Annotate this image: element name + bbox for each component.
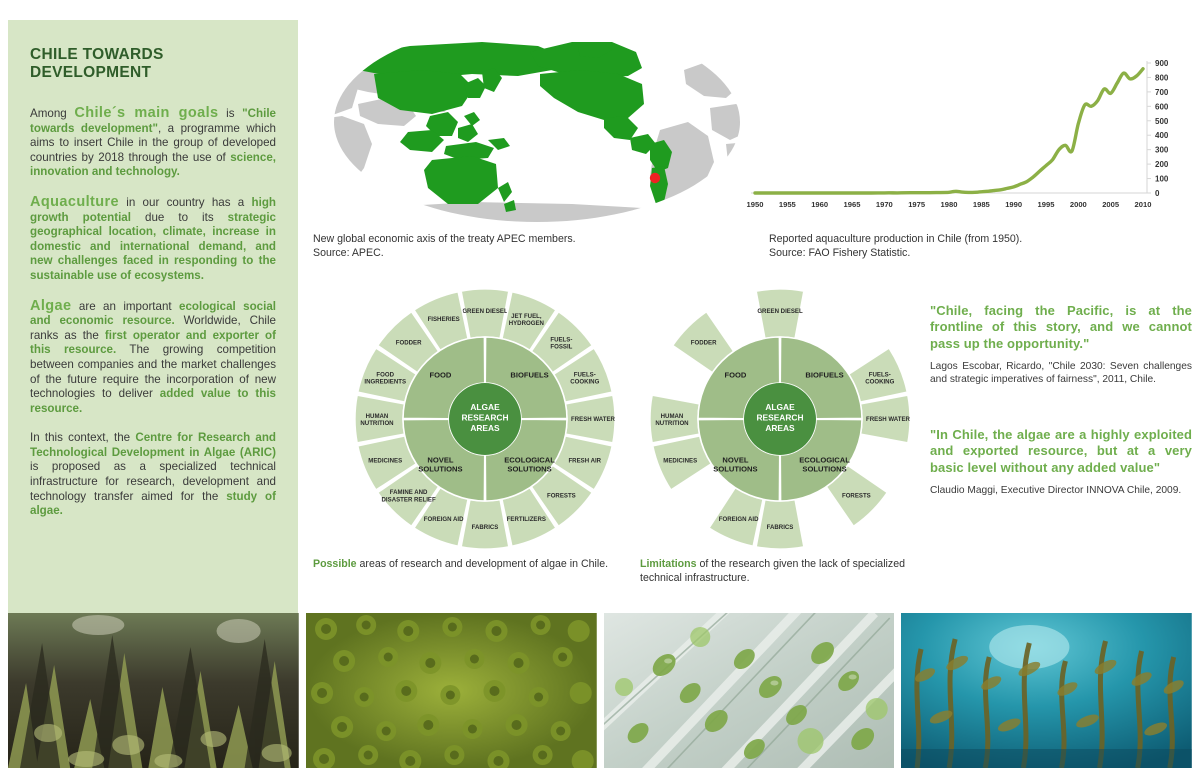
chart-series-line <box>755 69 1143 193</box>
wheel-quadrant-label: ECOLOGICALSOLUTIONS <box>504 456 555 474</box>
photo-microscope-diatoms <box>604 613 895 768</box>
svg-text:100: 100 <box>1155 175 1169 184</box>
text-segment: due to its <box>131 211 228 224</box>
chart-caption-line1: Reported aquaculture production in Chile… <box>769 233 1189 247</box>
svg-text:1985: 1985 <box>973 200 991 209</box>
algae-research-wheel-limitations: GREEN DIESELFUELS-COOKINGFRESH WATERFORE… <box>640 283 920 563</box>
wheel-quadrant-label: BIOFUELS <box>510 370 548 379</box>
wheel-quadrant-label: FOOD <box>724 370 746 379</box>
wheel-segment-label: FABRICS <box>767 524 794 531</box>
svg-text:1990: 1990 <box>1005 200 1022 209</box>
svg-text:700: 700 <box>1155 88 1169 97</box>
wheel-segment-label: FODDER <box>396 340 422 347</box>
text-segment: Chile´s main goals <box>74 105 218 121</box>
wheel-segment-label: FISHERIES <box>428 316 460 323</box>
wheel-possible-caption-lead: Possible <box>313 558 357 570</box>
wheel-possible-svg: GREEN DIESELJET FUEL,HYDROGENFUELS-FOSSI… <box>345 283 625 558</box>
algae-research-wheel-possible: GREEN DIESELJET FUEL,HYDROGENFUELS-FOSSI… <box>345 283 625 563</box>
text-segment: in our country has a <box>119 196 252 209</box>
quote-2-text: "In Chile, the algae are a highly exploi… <box>930 427 1192 476</box>
chart-x-tick-labels: 1950195519601965197019751980198519901995… <box>747 200 1152 209</box>
wheel-segment-label: FABRICS <box>472 524 499 531</box>
svg-text:0: 0 <box>1155 189 1160 198</box>
wheel-segment-label: FOREIGN AID <box>424 516 464 523</box>
intro-panel: CHILE TOWARDS DEVELOPMENT Among Chile´s … <box>8 20 298 615</box>
photo-strip <box>8 613 1192 768</box>
photo-rocky-seaweed-shore <box>8 613 299 768</box>
svg-text:200: 200 <box>1155 160 1169 169</box>
wheel-segment-label: FRESH AIR <box>568 457 601 464</box>
svg-text:1995: 1995 <box>1038 200 1056 209</box>
wheel-limitations-svg: GREEN DIESELFUELS-COOKINGFRESH WATERFORE… <box>640 283 920 558</box>
map-caption-line1: New global economic axis of the treaty A… <box>313 233 753 247</box>
text-segment: are an important <box>72 300 180 313</box>
wheel-limitations-caption: Limitations of the research given the la… <box>640 558 925 585</box>
chart-axes <box>751 61 1147 193</box>
text-segment: is <box>219 107 243 120</box>
wheel-segment-label: FOREIGN AID <box>719 516 759 523</box>
text-segment: Algae <box>30 298 72 314</box>
svg-text:500: 500 <box>1155 117 1169 126</box>
wheel-segment-label: FUELS-FOSSIL <box>550 336 572 350</box>
svg-text:1965: 1965 <box>844 200 862 209</box>
wheel-segment-label: GREEN DIESEL <box>462 308 508 315</box>
intro-paragraph-3: Algae are an important ecological social… <box>30 299 276 417</box>
chart-caption: Reported aquaculture production in Chile… <box>769 233 1189 260</box>
wheel-segment-label: FERTILIZERS <box>507 516 546 523</box>
map-caption: New global economic axis of the treaty A… <box>313 233 753 260</box>
svg-text:1970: 1970 <box>876 200 893 209</box>
svg-text:600: 600 <box>1155 102 1169 111</box>
wheel-quadrant-label: BIOFUELS <box>805 370 843 379</box>
svg-text:1955: 1955 <box>779 200 797 209</box>
svg-text:1960: 1960 <box>811 200 828 209</box>
wheel-segment-label: FUELS-COOKING <box>570 371 599 385</box>
wheel-segment-label: MEDICINES <box>368 457 402 464</box>
svg-text:1980: 1980 <box>941 200 958 209</box>
text-segment: In this context, the <box>30 431 135 444</box>
intro-paragraph-1: Among Chile´s main goals is "Chile towar… <box>30 106 276 180</box>
aquaculture-production-chart: 0100200300400500600700800900 19501955196… <box>745 55 1195 225</box>
page-title: CHILE TOWARDS DEVELOPMENT <box>30 46 276 82</box>
chart-y-tick-labels: 0100200300400500600700800900 <box>1147 59 1169 198</box>
intro-paragraph-2: Aquaculture in our country has a high gr… <box>30 195 276 284</box>
wheel-segment-label: JET FUEL,HYDROGEN <box>509 313 544 327</box>
svg-text:1975: 1975 <box>908 200 926 209</box>
wheel-segment-label: FUELS-COOKING <box>865 371 894 385</box>
wheel-possible-caption-rest: areas of research and development of alg… <box>357 558 608 570</box>
wheel-segment-label: FRESH WATER <box>866 416 910 423</box>
photo-kelp-forest <box>901 613 1192 768</box>
wheel-segment-label: GREEN DIESEL <box>757 308 803 315</box>
aquaculture-chart-svg: 0100200300400500600700800900 19501955196… <box>745 55 1195 225</box>
wheel-limitations-caption-lead: Limitations <box>640 558 697 570</box>
chile-marker <box>650 173 660 183</box>
svg-text:1950: 1950 <box>747 200 764 209</box>
wheel-segment-label: FORESTS <box>842 492 871 499</box>
svg-text:2000: 2000 <box>1070 200 1087 209</box>
svg-text:300: 300 <box>1155 146 1169 155</box>
quotes-panel: "Chile, facing the Pacific, is at the fr… <box>930 303 1192 498</box>
map-caption-source: Source: APEC. <box>313 247 753 261</box>
apec-world-map <box>312 12 762 232</box>
svg-text:900: 900 <box>1155 59 1169 68</box>
chart-caption-source: Source: FAO Fishery Statistic. <box>769 247 1189 261</box>
wheel-segment-label: FODDER <box>691 340 717 347</box>
svg-text:800: 800 <box>1155 73 1169 82</box>
wheel-segment-label: MEDICINES <box>663 457 697 464</box>
wheel-segment-label: FRESH WATER <box>571 416 615 423</box>
quote-1-attribution: Lagos Escobar, Ricardo, "Chile 2030: Sev… <box>930 361 1192 387</box>
svg-text:2010: 2010 <box>1135 200 1152 209</box>
quote-1-text: "Chile, facing the Pacific, is at the fr… <box>930 303 1192 352</box>
quote-2-attribution: Claudio Maggi, Executive Director INNOVA… <box>930 485 1192 498</box>
text-segment: Among <box>30 107 74 120</box>
world-map-svg <box>312 12 762 232</box>
wheel-possible-caption: Possible areas of research and developme… <box>313 558 613 572</box>
wheel-quadrant-label: ECOLOGICALSOLUTIONS <box>799 456 850 474</box>
wheel-quadrant-label: FOOD <box>429 370 451 379</box>
svg-text:2005: 2005 <box>1102 200 1120 209</box>
wheel-segment-label: FORESTS <box>547 492 576 499</box>
photo-green-algae-mat <box>306 613 597 768</box>
intro-paragraph-4: In this context, the Centre for Research… <box>30 431 276 519</box>
svg-text:400: 400 <box>1155 131 1169 140</box>
text-segment: Aquaculture <box>30 194 119 210</box>
